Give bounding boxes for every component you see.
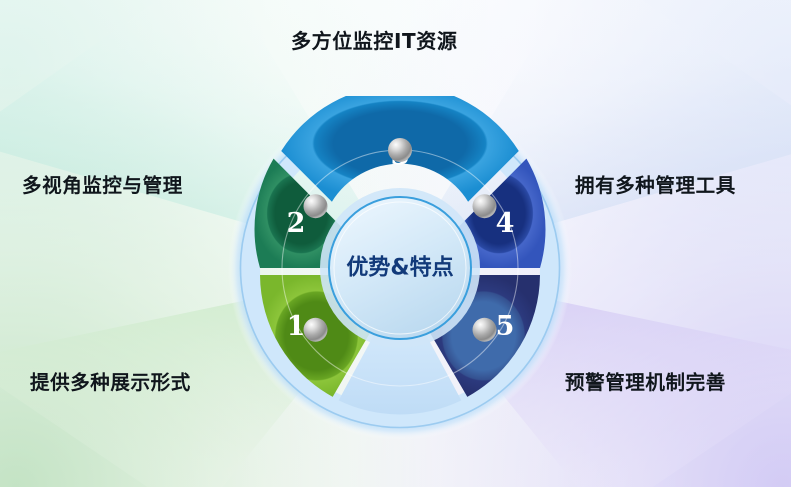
segment-number-1: 1 (287, 311, 306, 342)
segment-number-4: 4 (496, 208, 515, 239)
label-segment-5: 预警管理机制完善 (565, 366, 726, 395)
bullet-sphere-1[interactable] (304, 318, 328, 342)
label-segment-1: 提供多种展示形式 (30, 366, 191, 395)
bullet-sphere-5[interactable] (473, 318, 497, 342)
label-segment-3: 多方位监控IT资源 (291, 25, 457, 54)
wheel-diagram: 优势&特点 3 2 4 1 5 (228, 96, 572, 440)
label-segment-4: 拥有多种管理工具 (575, 169, 736, 198)
bullet-sphere-2[interactable] (304, 194, 328, 218)
center-label: 优势&特点 (346, 255, 453, 281)
bullet-sphere-3[interactable] (388, 138, 412, 162)
infographic-canvas: 优势&特点 3 2 4 1 5 多方位监控IT资源 多视角监控与管理 提供多种展… (0, 0, 791, 487)
bullet-sphere-4[interactable] (473, 194, 497, 218)
segment-number-5: 5 (496, 311, 515, 342)
label-segment-2: 多视角监控与管理 (22, 169, 183, 198)
segment-number-2: 2 (287, 208, 306, 239)
